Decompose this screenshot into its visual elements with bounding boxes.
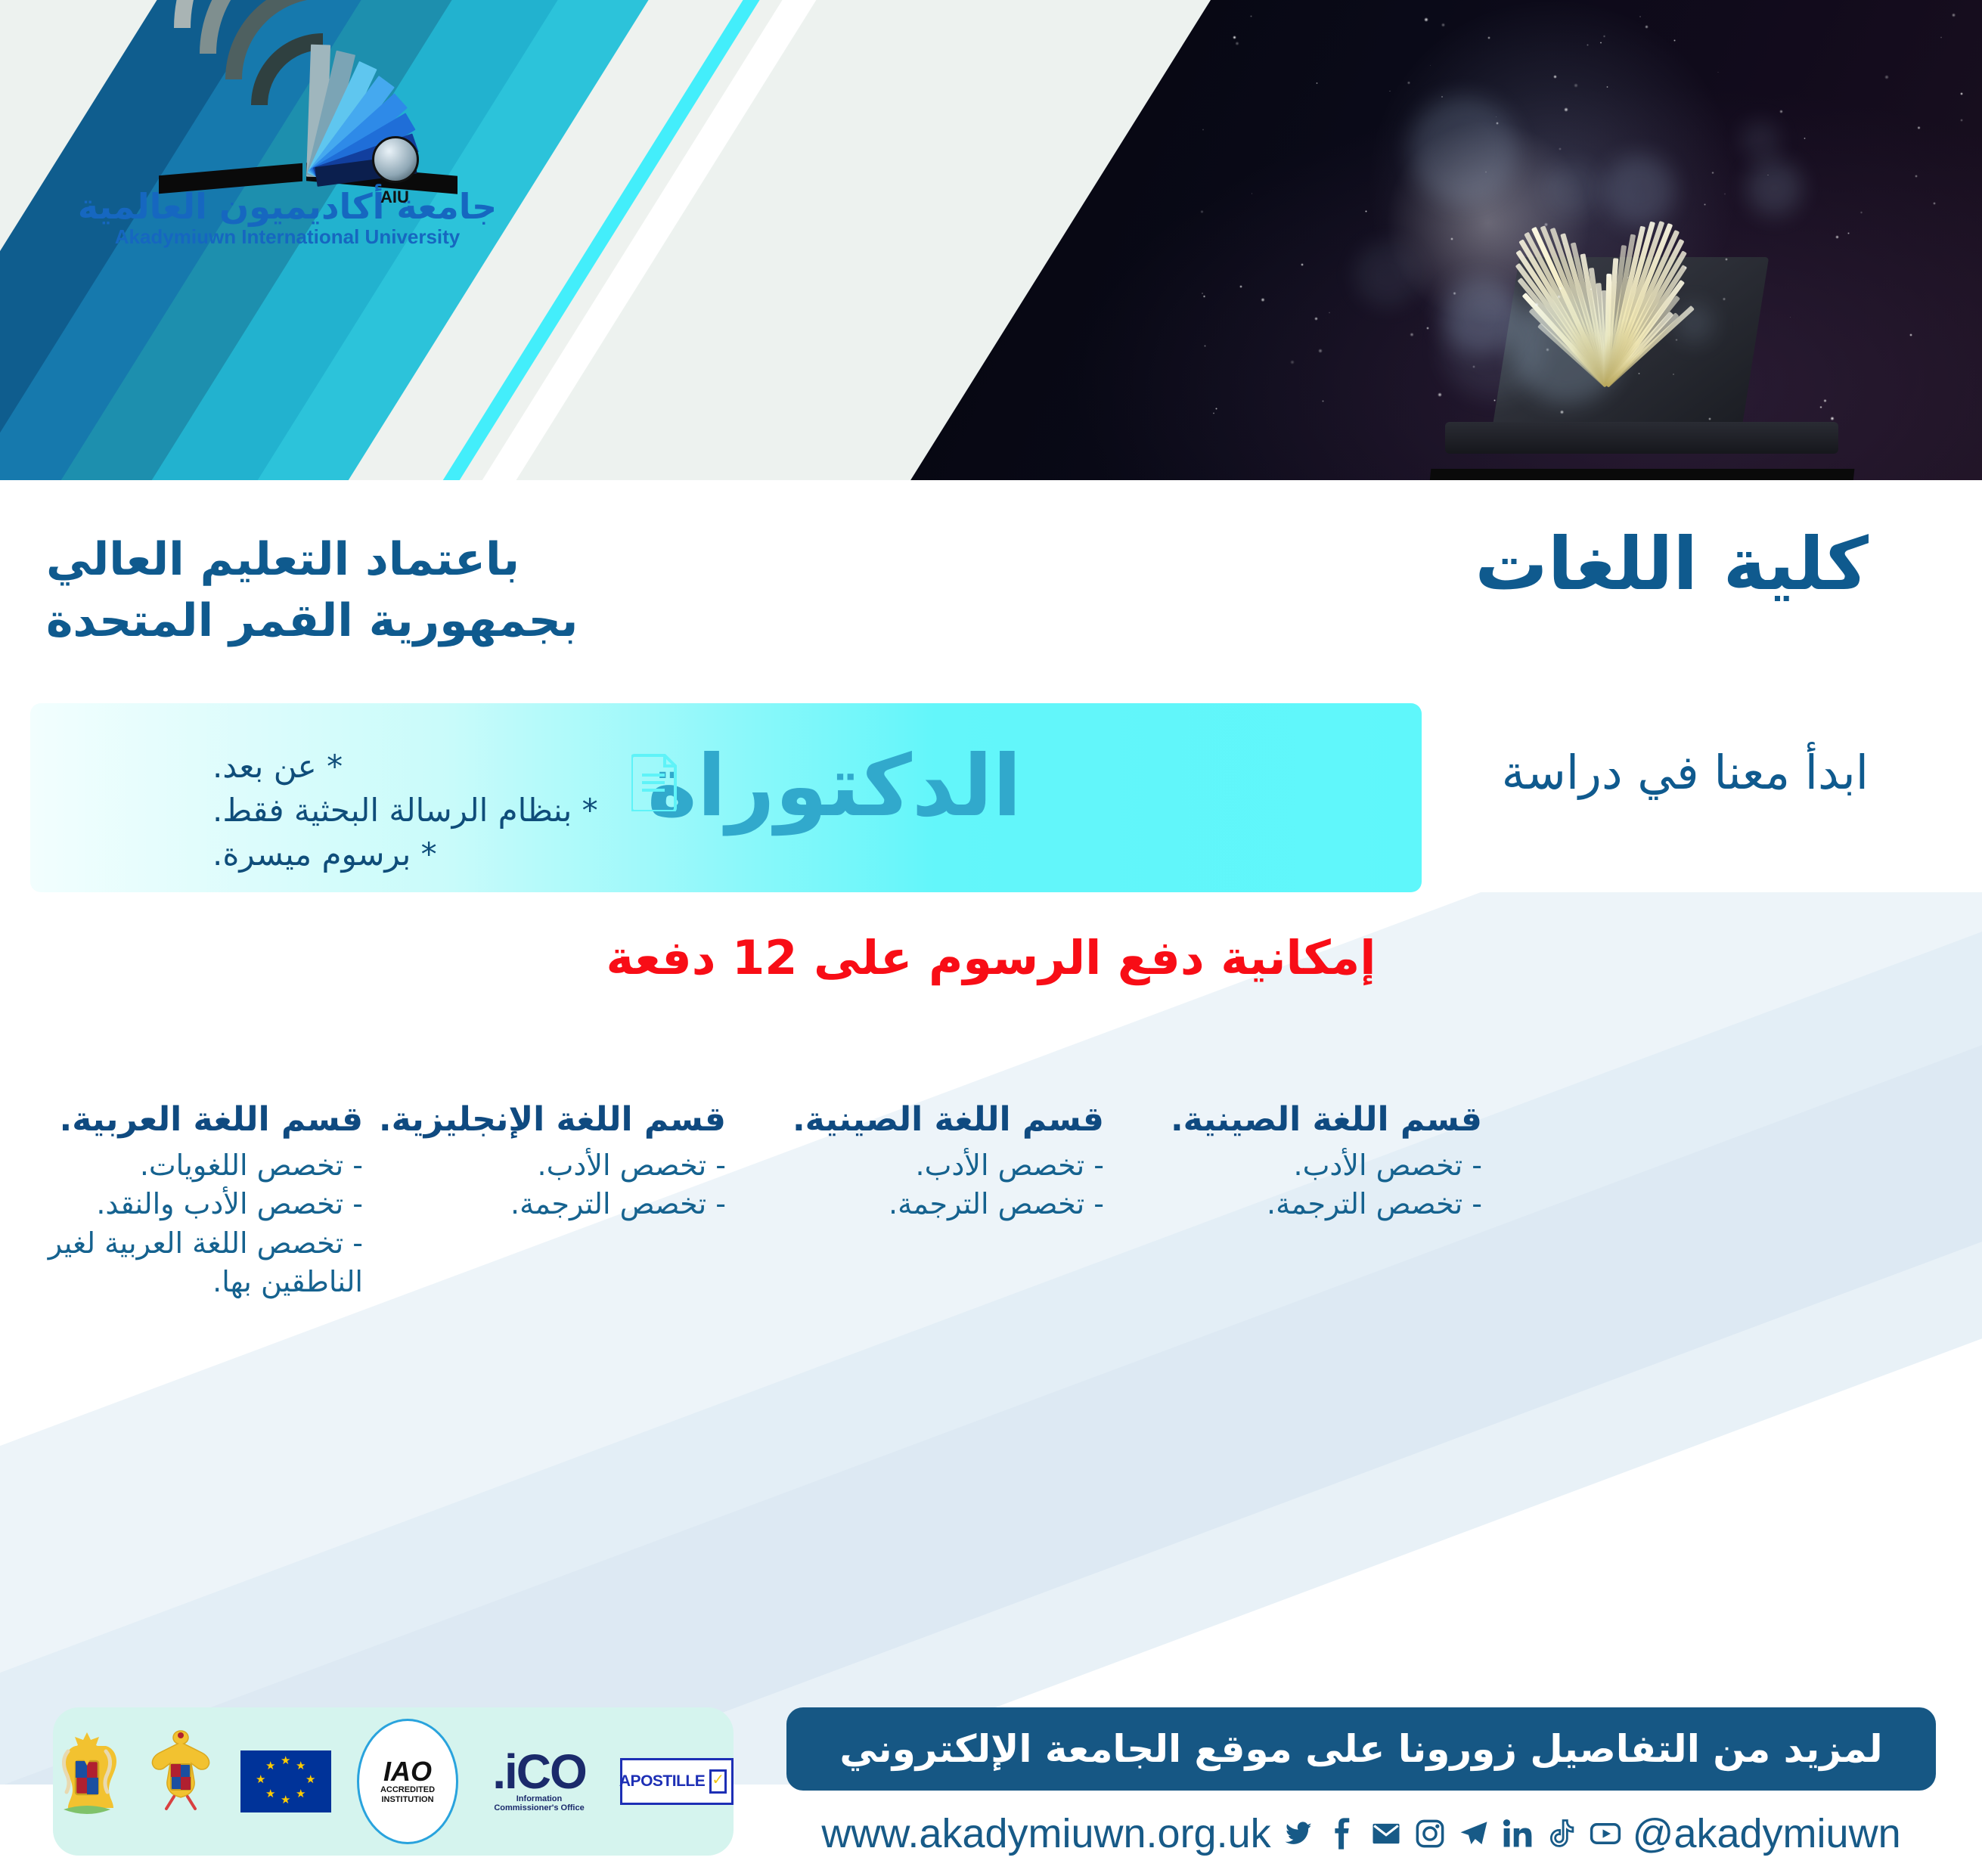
sparkle — [1645, 25, 1649, 29]
sparkle — [1564, 107, 1568, 112]
sparkle — [1627, 277, 1629, 278]
facebook-icon[interactable] — [1326, 1817, 1359, 1850]
department-specialization: - تخصص الأدب. — [741, 1146, 1104, 1185]
light-glow — [1547, 163, 1601, 216]
ico-label: iCO. — [484, 1750, 594, 1794]
sparkle — [1365, 210, 1367, 212]
sparkle — [1563, 243, 1565, 244]
department-specialization: - تخصص الترجمة. — [741, 1185, 1104, 1223]
sparkle — [1441, 23, 1445, 26]
email-icon[interactable] — [1369, 1817, 1403, 1850]
feature-item: * برسوم ميسرة. — [212, 833, 727, 876]
sparkle — [1830, 417, 1834, 420]
sparkle — [1673, 374, 1673, 374]
website-cta-banner[interactable]: لمزيد من التفاصيل زورونا على موقع الجامع… — [786, 1707, 1936, 1791]
installments-note: إمكانية دفع الرسوم على 12 دفعة — [0, 930, 1982, 985]
light-glow — [1355, 242, 1419, 306]
uk-royal-crest-badge — [53, 1725, 121, 1838]
department-specialization: - تخصص الترجمة. — [1119, 1185, 1482, 1223]
sparkle — [1261, 298, 1265, 302]
sparkle — [1424, 17, 1428, 22]
uk-royal-arms-icon — [53, 1725, 121, 1838]
sparkle — [1915, 175, 1918, 178]
sparkle — [1587, 44, 1589, 46]
sparkle — [1318, 349, 1323, 353]
sparkle — [1960, 92, 1963, 95]
logo-english-name: Akadymiuwn International University — [76, 225, 499, 249]
departments-list: قسم اللغة العربية. - تخصص اللغويات. - تخ… — [0, 1100, 1982, 1301]
department-column: قسم اللغة العربية. - تخصص اللغويات. - تخ… — [0, 1100, 363, 1301]
logo-monogram: AIU — [364, 188, 425, 207]
laptop-base — [1445, 422, 1838, 454]
sparkle — [1960, 119, 1963, 122]
sparkle — [1202, 129, 1205, 131]
sparkle — [1724, 193, 1726, 195]
header-divider — [0, 480, 1982, 484]
apostille-badge: ✓ APOSTILLE — [620, 1758, 734, 1805]
sparkle — [1487, 36, 1490, 39]
sparkle — [1430, 65, 1431, 66]
sparkle — [1708, 417, 1711, 420]
iao-line-1: ACCREDITED — [380, 1785, 435, 1795]
sparkle — [1779, 110, 1783, 113]
logo-arabic-name: جامعة أكاديميون العالمية — [76, 188, 499, 226]
accreditation-line-1: باعتماد التعليم العالي — [46, 529, 696, 591]
department-specialization: - تخصص الترجمة. — [363, 1185, 726, 1223]
diagonal-background-band — [0, 892, 1982, 1785]
globe-icon — [372, 136, 419, 183]
iao-badge: IAO ACCREDITED INSTITUTION — [357, 1719, 458, 1844]
sparkle — [1213, 412, 1214, 414]
university-logo: AIU جامعة أكاديميون العالمية Akadymiuwn … — [76, 36, 499, 248]
sparkle — [1933, 202, 1936, 205]
sparkle — [1952, 13, 1956, 17]
light-glow — [1676, 304, 1714, 342]
accreditation-line-2: بجمهورية القمر المتحدة — [46, 591, 696, 652]
sparkle — [1574, 83, 1578, 88]
department-title: قسم اللغة الصينية. — [1119, 1100, 1482, 1139]
sparkle — [1704, 203, 1706, 206]
sparkle — [1316, 82, 1317, 84]
sparkle — [1322, 400, 1324, 402]
romania-eagle-icon — [147, 1725, 215, 1838]
sparkle — [1290, 360, 1295, 364]
sparkle — [1884, 75, 1889, 79]
ico-badge: iCO. Information Commissioner's Office — [484, 1750, 594, 1812]
light-glow — [1410, 96, 1517, 203]
social-handle[interactable]: @akadymiuwn — [1633, 1810, 1901, 1857]
iao-label: IAO — [383, 1758, 432, 1785]
department-specialization: - تخصص اللغة العربية لغير الناطقين بها. — [0, 1224, 363, 1302]
sparkle — [1723, 297, 1726, 301]
telegram-icon[interactable] — [1457, 1817, 1490, 1850]
twitter-icon[interactable] — [1282, 1817, 1315, 1850]
tiktok-icon[interactable] — [1545, 1817, 1578, 1850]
sparkle — [1203, 295, 1206, 298]
sparkle — [1600, 42, 1602, 44]
start-line-text: ابدأ معنا في دراسة — [1188, 745, 1869, 800]
sparkle — [1606, 273, 1611, 278]
sparkle — [1909, 333, 1912, 336]
document-icon — [631, 752, 678, 811]
sparkle — [1200, 210, 1203, 213]
website-url[interactable]: www.akadymiuwn.org.uk — [821, 1810, 1270, 1857]
light-glow — [1512, 294, 1622, 404]
sparkle — [1673, 39, 1675, 41]
sparkle — [1202, 293, 1203, 294]
sparkle — [1329, 312, 1330, 313]
light-glow — [1604, 155, 1674, 225]
sparkle — [1215, 408, 1217, 410]
sparkle — [1544, 222, 1549, 227]
sparkle — [1860, 211, 1863, 213]
linkedin-icon[interactable] — [1501, 1817, 1534, 1850]
sparkle — [1239, 285, 1242, 288]
sparkle — [1675, 339, 1677, 341]
department-specialization: - تخصص الأدب والنقد. — [0, 1185, 363, 1223]
iao-line-2: INSTITUTION — [381, 1795, 433, 1805]
sparkle — [1407, 81, 1411, 85]
department-title: قسم اللغة الصينية. — [741, 1100, 1104, 1139]
website-cta-text: لمزيد من التفاصيل زورونا على موقع الجامع… — [839, 1727, 1882, 1771]
sparkle — [1233, 36, 1236, 39]
youtube-icon[interactable] — [1589, 1817, 1622, 1850]
sparkle — [1438, 392, 1442, 397]
sparkle — [1940, 36, 1943, 39]
department-specialization: - تخصص الأدب. — [363, 1146, 726, 1185]
light-glow — [1747, 160, 1802, 216]
sparkle — [1314, 317, 1318, 321]
contact-line: www.akadymiuwn.org.uk @akadymiuwn — [786, 1801, 1936, 1866]
sparkle — [1639, 16, 1641, 17]
sparkle — [1560, 410, 1565, 414]
header-banner: AIU جامعة أكاديميون العالمية Akadymiuwn … — [0, 0, 1982, 484]
department-specialization: - تخصص الأدب. — [1119, 1146, 1482, 1185]
sparkle — [1235, 42, 1239, 45]
glowing-book-photo — [908, 0, 1982, 484]
department-column: قسم اللغة الصينية. - تخصص الأدب. - تخصص … — [1119, 1100, 1482, 1301]
light-glow — [1441, 277, 1519, 355]
eu-flag-badge: ★ ★ ★ ★ ★ ★ ★ ★ — [240, 1750, 331, 1812]
apostille-label: APOSTILLE — [619, 1772, 705, 1791]
sparkle — [1301, 263, 1303, 265]
sparkle — [1717, 72, 1718, 73]
sparkle — [1917, 126, 1921, 130]
sparkle — [1389, 91, 1391, 92]
check-icon: ✓ — [709, 1769, 727, 1794]
romania-crest-badge — [147, 1725, 215, 1838]
accreditation-text: باعتماد التعليم العالي بجمهورية القمر ال… — [46, 529, 696, 652]
accreditation-badges: ✓ APOSTILLE iCO. Information Commissione… — [53, 1707, 734, 1856]
department-title: قسم اللغة الإنجليزية. — [363, 1100, 726, 1139]
sparkle — [1603, 35, 1605, 37]
sparkle — [1204, 345, 1206, 347]
department-column: قسم اللغة الإنجليزية. - تخصص الأدب. - تخ… — [363, 1100, 726, 1301]
sparkle — [1252, 193, 1253, 194]
logo-mark: AIU — [151, 36, 469, 188]
department-specialization: - تخصص اللغويات. — [0, 1146, 363, 1185]
faculty-title: كلية اللغات — [961, 522, 1869, 606]
instagram-icon[interactable] — [1413, 1817, 1447, 1850]
department-column: قسم اللغة الصينية. - تخصص الأدب. - تخصص … — [741, 1100, 1104, 1301]
sparkle — [1250, 15, 1252, 17]
department-title: قسم اللغة العربية. — [0, 1100, 363, 1139]
light-glow — [1742, 121, 1779, 159]
